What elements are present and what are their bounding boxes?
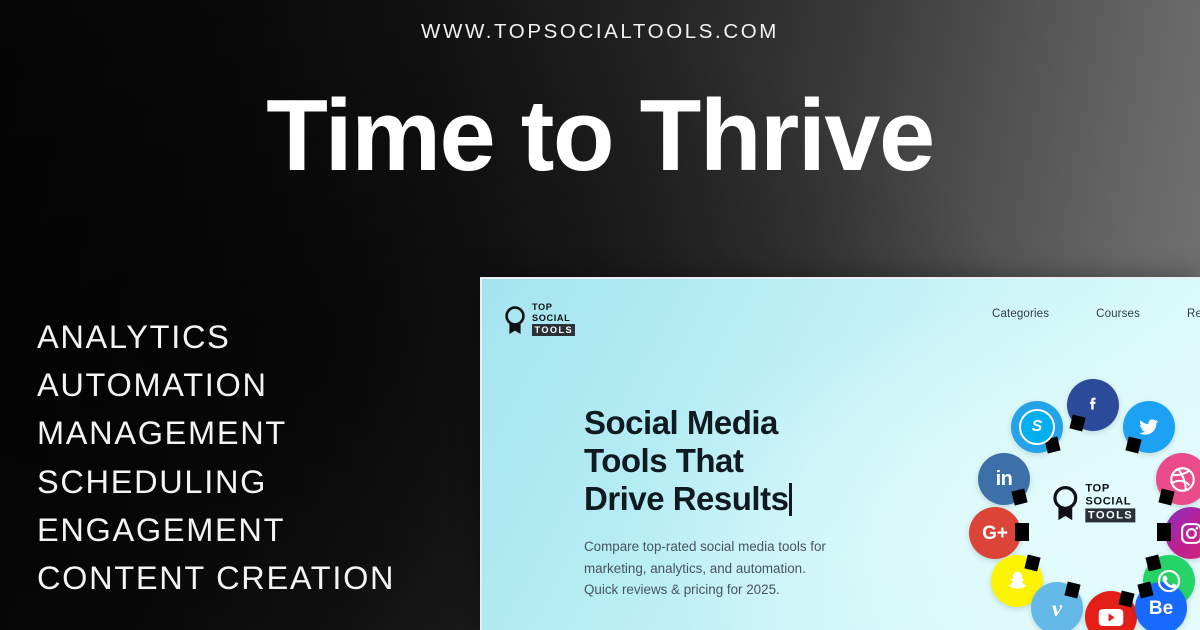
text-cursor-icon [789,483,792,516]
social-icon-twitter[interactable] [1123,401,1175,453]
main-nav: Categories Courses Resources [992,308,1200,320]
site-logo[interactable]: TOP SOCIAL TOOLS [503,303,575,336]
ring-logo-line-social: SOCIAL [1085,496,1135,507]
ring-logo-line-top: TOP [1085,483,1135,494]
logo-wordmark: TOP SOCIAL TOOLS [532,303,575,336]
logo-line-top: TOP [532,303,575,312]
mockup-hero: Social Media Tools That Drive Results Co… [584,404,884,601]
nav-item-courses[interactable]: Courses [1096,308,1140,320]
dribbble-icon [1169,466,1196,493]
snapchat-ghost-icon [1005,569,1030,594]
twitter-bird-icon [1137,415,1161,439]
google-plus-icon: G+ [982,524,1008,543]
mockup-subtext: Compare top-rated social media tools for… [584,536,884,600]
site-url: www.topsocialtools.com [0,20,1200,44]
social-icon-ring: S in G+ [969,379,1200,627]
list-item: Automation [37,361,395,409]
feature-list: Analytics Automation Management Scheduli… [37,313,395,602]
list-item: Scheduling [37,458,395,506]
logo-line-tools: TOOLS [532,324,575,336]
ring-logo-wordmark: TOP SOCIAL TOOLS [1085,483,1135,522]
facebook-icon [1082,394,1104,416]
ring-center-logo: TOP SOCIAL TOOLS [1050,483,1135,522]
badge-ribbon-icon [1050,485,1080,522]
website-mockup-panel: TOP SOCIAL TOOLS Categories Courses Reso… [480,277,1200,630]
list-item: Analytics [37,313,395,361]
social-icon-instagram[interactable] [1165,507,1200,559]
list-item: Engagement [37,506,395,554]
promo-graphic: www.topsocialtools.com Time to Thrive An… [0,0,1200,630]
instagram-icon [1179,521,1200,546]
skype-icon: S [1019,409,1055,445]
ring-logo-line-tools: TOOLS [1085,509,1135,523]
youtube-icon [1098,608,1124,627]
social-icon-vimeo[interactable]: v [1031,582,1083,630]
list-item: Management [37,409,395,457]
badge-ribbon-icon [503,305,527,335]
nav-item-resources[interactable]: Resources [1187,308,1200,320]
social-icon-googleplus[interactable]: G+ [969,507,1021,559]
mockup-headline-text: Social Media Tools That Drive Results [584,404,788,517]
social-icon-youtube[interactable] [1085,591,1137,630]
logo-line-social: SOCIAL [532,314,575,323]
nav-item-categories[interactable]: Categories [992,308,1049,320]
social-icon-facebook[interactable] [1067,379,1119,431]
social-icon-skype[interactable]: S [1011,401,1063,453]
behance-icon: Be [1149,599,1173,618]
list-item: Content Creation [37,554,395,602]
social-icon-linkedin[interactable]: in [978,453,1030,505]
page-title: Time to Thrive [0,86,1200,187]
vimeo-icon: v [1052,597,1062,620]
mockup-headline: Social Media Tools That Drive Results [584,404,884,518]
whatsapp-icon [1156,568,1182,594]
social-icon-dribbble[interactable] [1156,453,1200,505]
linkedin-icon: in [996,469,1013,489]
